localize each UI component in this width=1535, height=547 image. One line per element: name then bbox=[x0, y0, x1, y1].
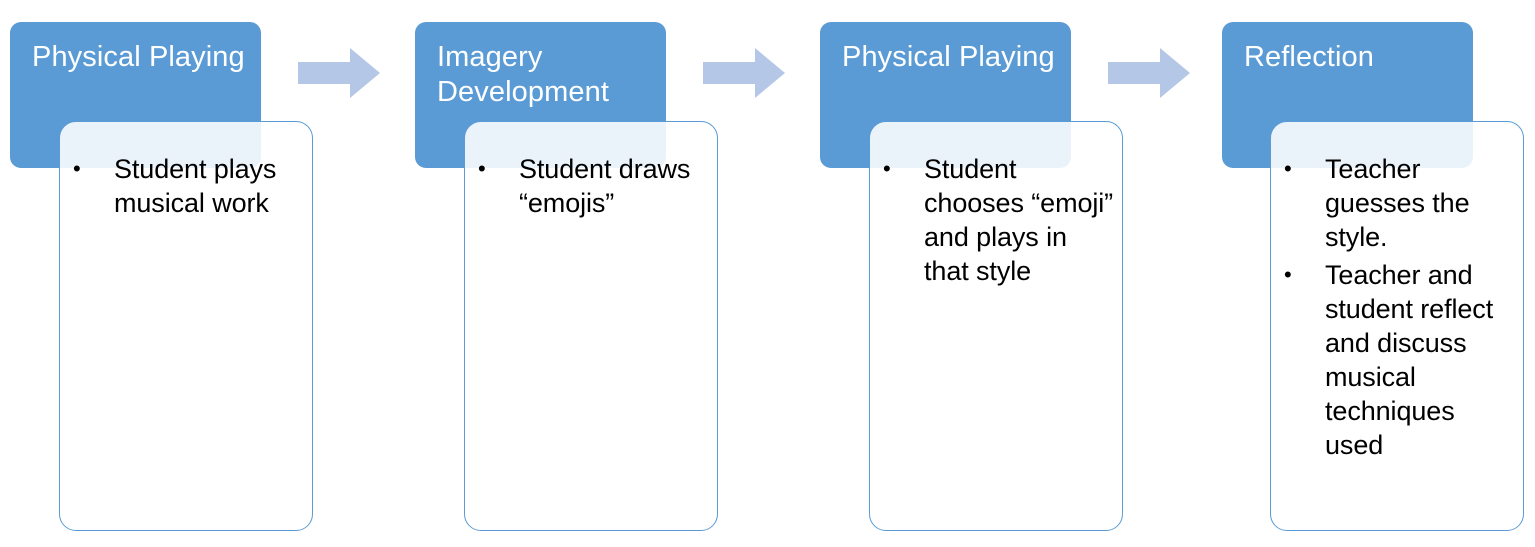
bullet-icon: • bbox=[478, 152, 488, 186]
list-item-text: Student plays musical work bbox=[114, 154, 276, 218]
list-item: • Student draws “emojis” bbox=[465, 152, 711, 220]
stage-header-label: Reflection bbox=[1244, 40, 1463, 75]
connector-arrow-right[interactable] bbox=[298, 48, 380, 98]
stage-header-label: Physical Playing bbox=[842, 40, 1061, 75]
list-item-text: Teacher guesses the style. bbox=[1325, 154, 1470, 252]
list-item-text: Teacher and student reflect and discuss … bbox=[1325, 260, 1493, 460]
stage-bullet-list: • Teacher guesses the style. • Teacher a… bbox=[1271, 152, 1517, 466]
list-item: • Teacher and student reflect and discus… bbox=[1271, 258, 1517, 462]
bullet-icon: • bbox=[883, 152, 893, 186]
process-diagram: Physical Playing • Student plays musical… bbox=[0, 0, 1535, 547]
arrow-right-icon bbox=[703, 48, 785, 98]
bullet-icon: • bbox=[1284, 258, 1294, 292]
arrow-right-icon bbox=[1108, 48, 1190, 98]
stage-header-label: Imagery Development bbox=[437, 40, 656, 110]
stage-body-card[interactable]: • Student draws “emojis” bbox=[464, 121, 718, 531]
bullet-icon: • bbox=[1284, 152, 1294, 186]
list-item-text: Student draws “emojis” bbox=[519, 154, 690, 218]
stage-body-card[interactable]: • Student plays musical work bbox=[59, 121, 313, 531]
list-item: • Student chooses “emoji” and plays in t… bbox=[870, 152, 1116, 288]
stage-bullet-list: • Student plays musical work bbox=[60, 152, 306, 224]
stage-bullet-list: • Student chooses “emoji” and plays in t… bbox=[870, 152, 1116, 292]
arrow-right-icon bbox=[298, 48, 380, 98]
connector-arrow-right[interactable] bbox=[703, 48, 785, 98]
list-item: • Teacher guesses the style. bbox=[1271, 152, 1517, 254]
stage-body-card[interactable]: • Student chooses “emoji” and plays in t… bbox=[869, 121, 1123, 531]
bullet-icon: • bbox=[73, 152, 83, 186]
list-item-text: Student chooses “emoji” and plays in tha… bbox=[924, 154, 1113, 286]
stage-header-label: Physical Playing bbox=[32, 40, 251, 75]
stage-bullet-list: • Student draws “emojis” bbox=[465, 152, 711, 224]
connector-arrow-right[interactable] bbox=[1108, 48, 1190, 98]
list-item: • Student plays musical work bbox=[60, 152, 306, 220]
stage-body-card[interactable]: • Teacher guesses the style. • Teacher a… bbox=[1270, 121, 1524, 531]
